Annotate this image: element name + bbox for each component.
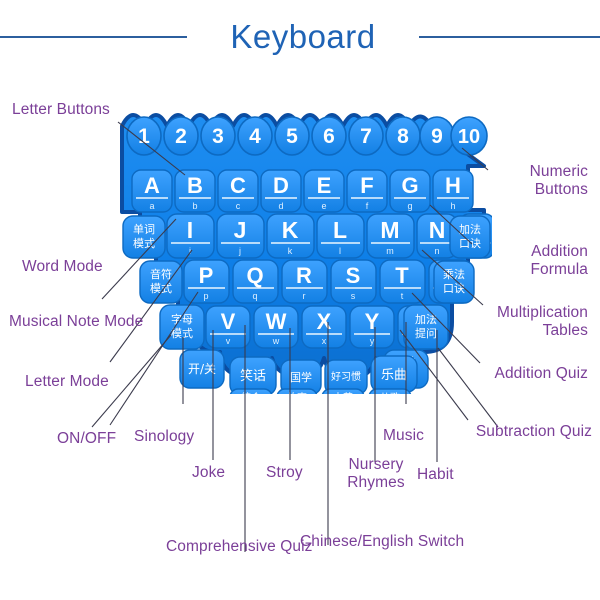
callout-nursery-rhymes: Nursery Rhymes: [338, 456, 414, 492]
callout-leader-lines: [0, 0, 600, 600]
callout-music: Music: [383, 427, 424, 445]
leader-letter-buttons: [118, 122, 185, 175]
callout-numeric-buttons: Numeric Buttons: [464, 163, 588, 199]
leader-addition-formula: [430, 205, 472, 244]
callout-on-off: ON/OFF: [57, 430, 116, 448]
callout-subtraction-quiz-right: Subtraction Quiz: [454, 423, 592, 441]
leader-letter-mode: [110, 292, 198, 425]
callout-chinese-english-switch: Chinese/English Switch: [300, 533, 464, 551]
callout-joke: Joke: [192, 464, 225, 482]
leader-subtraction-quiz-bottom: [438, 348, 498, 427]
callout-multiplication-tables: Multiplication Tables: [454, 304, 588, 340]
callout-musical-note-mode: Musical Note Mode: [9, 313, 143, 331]
callout-letter-buttons: Letter Buttons: [12, 101, 110, 119]
callout-stroy: Stroy: [266, 464, 303, 482]
callout-word-mode: Word Mode: [22, 258, 103, 276]
callout-addition-quiz: Addition Quiz: [454, 365, 588, 383]
callout-habit: Habit: [417, 466, 454, 484]
leader-musical-note-mode: [110, 250, 192, 362]
callout-sinology: Sinology: [134, 428, 194, 446]
callout-letter-mode: Letter Mode: [25, 373, 109, 391]
callout-addition-formula: Addition Formula: [464, 243, 588, 279]
callout-comprehensive-quiz: Comprehensive Quiz: [166, 538, 313, 556]
